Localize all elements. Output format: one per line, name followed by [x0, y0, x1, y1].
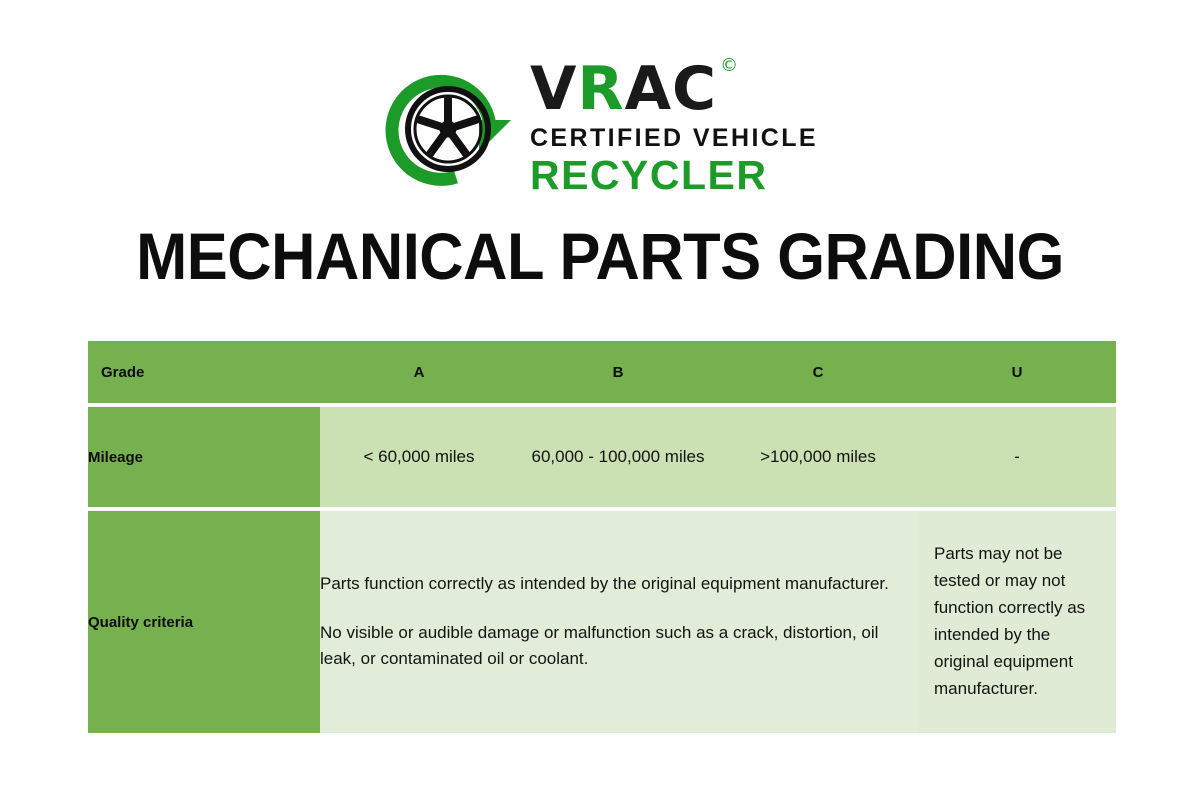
header-grade-label: Grade — [88, 341, 320, 403]
page-title: MECHANICAL PARTS GRADING — [42, 218, 1158, 294]
mileage-grade-a-value: < 60,000 miles — [320, 407, 518, 507]
mileage-grade-b-value: 60,000 - 100,000 miles — [518, 407, 718, 507]
logo-inner: VRAC© CERTIFIED VEHICLE RECYCLER — [382, 57, 818, 197]
copyright-icon: © — [720, 57, 739, 75]
table-row-mileage: Mileage < 60,000 miles 60,000 - 100,000 … — [88, 407, 1116, 507]
row-label-mileage: Mileage — [88, 407, 320, 507]
logo-brand-r: R — [577, 54, 624, 124]
quality-criteria-paragraph-1: Parts function correctly as intended by … — [320, 571, 918, 598]
quality-criteria-u-cell: Parts may not be tested or may not funct… — [918, 511, 1116, 733]
quality-criteria-abc-cell: Parts function correctly as intended by … — [320, 511, 918, 733]
table-header-row: Grade A B C U — [88, 341, 1116, 403]
logo-brand-name: VRAC© — [530, 59, 717, 119]
logo-tagline-recycler: RECYCLER — [530, 155, 768, 196]
header-grade-c: C — [718, 341, 918, 403]
mileage-grade-c-value: >100,000 miles — [718, 407, 918, 507]
logo-brand-ac: AC — [625, 54, 717, 124]
recycle-arrow-wheel-icon — [382, 57, 524, 197]
table-row-quality-criteria: Quality criteria Parts function correctl… — [88, 511, 1116, 733]
mileage-grade-u-value: - — [918, 407, 1116, 507]
mechanical-parts-grading-table: Grade A B C U Mileage < 60,000 miles 60,… — [88, 341, 1116, 733]
logo-tagline-certified-vehicle: CERTIFIED VEHICLE — [530, 126, 818, 151]
logo-wordmark: VRAC© CERTIFIED VEHICLE RECYCLER — [530, 59, 818, 196]
logo-brand-v: V — [530, 54, 577, 124]
quality-criteria-paragraph-2: No visible or audible damage or malfunct… — [320, 620, 918, 674]
brand-logo: VRAC© CERTIFIED VEHICLE RECYCLER — [0, 52, 1200, 202]
row-label-quality-criteria: Quality criteria — [88, 511, 320, 733]
header-grade-b: B — [518, 341, 718, 403]
header-grade-a: A — [320, 341, 518, 403]
header-grade-u: U — [918, 341, 1116, 403]
